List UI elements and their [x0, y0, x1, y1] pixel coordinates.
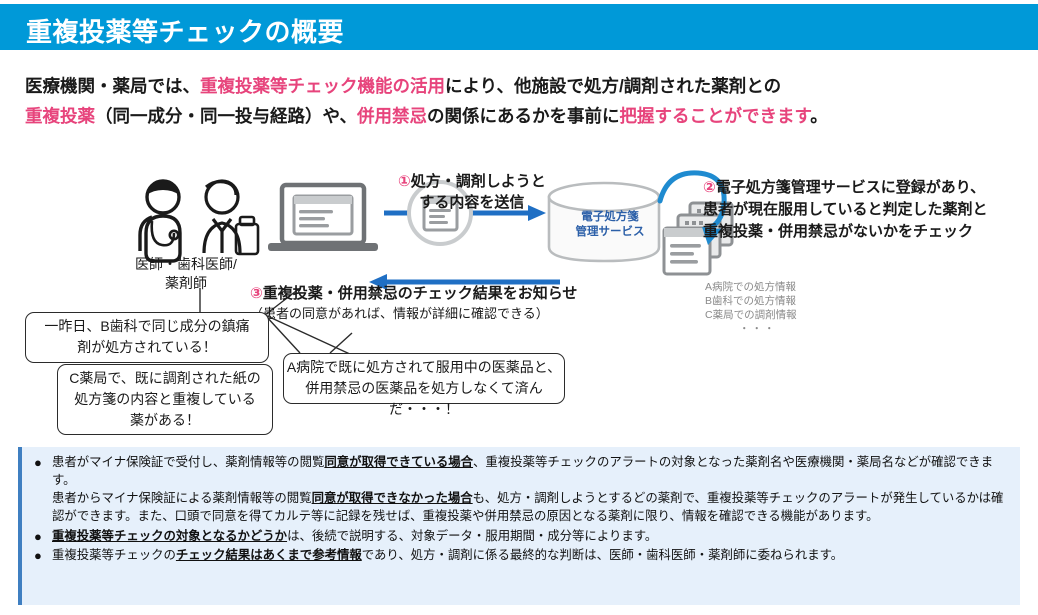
intro-line-2: 重複投薬（同一成分・同一投与経路）や、併用禁忌の関係にあるかを事前に把握すること…	[25, 102, 1020, 131]
step-2-number: ②	[703, 179, 716, 196]
note-1-text-a: 患者がマイナ保険証で受付し、薬剤情報等の閲覧	[52, 455, 324, 469]
role-label-line-2: 薬剤師	[165, 275, 207, 291]
record-list-item-1: A病院での処方情報	[705, 281, 796, 293]
note-3-text-b: であり、処方・調剤に係る最終的な判断は、医師・歯科医師・薬剤師に委ねられます。	[362, 548, 843, 562]
record-list: A病院での処方情報 B歯科での処方情報 C薬局での調剤情報 ・・・	[705, 280, 797, 336]
step-3-line-1: 重複投薬・併用禁忌のチェック結果をお知らせ	[263, 285, 578, 302]
doctor-hair-icon	[147, 181, 179, 195]
step-1-number: ①	[398, 173, 411, 190]
note-bullet-icon-2: ●	[34, 528, 52, 546]
step-2-line-2: 患者が現在服用していると判定した薬剤と	[703, 201, 988, 218]
note-item-1: ● 患者がマイナ保険証で受付し、薬剤情報等の閲覧同意が取得できている場合、重複投…	[34, 454, 1008, 489]
note-bullet-icon-1: ●	[34, 454, 52, 472]
note-1-emphasis: 同意が取得できている場合	[324, 455, 473, 469]
intro-text-1: 医療機関・薬局では、	[25, 76, 200, 96]
note-text-2: 重複投薬等チェックの対象となるかどうかは、後続で説明する、対象データ・服用期間・…	[52, 528, 1008, 546]
laptop-icon	[268, 185, 378, 251]
note-sub-text-a: 患者からマイナ保険証による薬剤情報等の閲覧	[52, 491, 312, 505]
intro-text-5: 。	[810, 106, 828, 126]
stethoscope-icon	[152, 221, 178, 245]
record-list-item-4: ・・・	[705, 323, 777, 335]
step-1-label: ①処方・調剤しようと する内容を送信	[398, 171, 546, 213]
flow-diagram: ①処方・調剤しようと する内容を送信 ②電子処方箋管理サービスに登録があり、 患…	[0, 155, 1038, 440]
role-label: 医師・歯科医師/ 薬剤師	[126, 255, 246, 293]
callout-pharmacy-line-2: 処方箋の内容と重複している	[74, 391, 256, 407]
step-1-line-1: 処方・調剤しようと	[411, 173, 546, 190]
note-text-3: 重複投薬等チェックのチェック結果はあくまで参考情報であり、処方・調剤に係る最終的…	[52, 547, 1008, 565]
intro-text-2: により、他施設で処方/調剤された薬剤との	[445, 76, 781, 96]
intro-text-4: の関係にあるかを事前に	[427, 106, 620, 126]
notes-panel: ● 患者がマイナ保険証で受付し、薬剤情報等の閲覧同意が取得できている場合、重複投…	[18, 447, 1020, 605]
step-1-line-2: する内容を送信	[419, 194, 524, 211]
step-3-label: ③重複投薬・併用禁忌のチェック結果をお知らせ （患者の同意があれば、情報が詳細に…	[250, 284, 577, 324]
note-text-1: 患者がマイナ保険証で受付し、薬剤情報等の閲覧同意が取得できている場合、重複投薬等…	[52, 454, 1008, 489]
callout-pharmacy-line-3: 薬がある！	[130, 412, 200, 428]
page-title: 重複投薬等チェックの概要	[26, 12, 344, 49]
record-list-item-2: B歯科での処方情報	[705, 295, 796, 307]
step-2-line-3: 重複投薬・併用禁忌がないかをチェック	[703, 223, 973, 240]
callout-hospital-line-1: A病院で既に処方されて服用中の医薬品と、	[287, 359, 561, 375]
callout-dental: 一昨日、B歯科で同じ成分の鎮痛 剤が処方されている！	[25, 312, 269, 363]
intro-highlight-4: 把握することができます	[619, 106, 810, 126]
callout-pharmacy-line-1: C薬局で、既に調剤された紙の	[69, 370, 261, 386]
callout-dental-line-1: 一昨日、B歯科で同じ成分の鎮痛	[44, 318, 249, 334]
database-label-line-1: 電子処方箋	[581, 211, 639, 223]
pharmacist-icon	[204, 181, 240, 253]
intro-paragraph: 医療機関・薬局では、重複投薬等チェック機能の活用により、他施設で処方/調剤された…	[25, 72, 1020, 131]
callout-hospital: A病院で既に処方されて服用中の医薬品と、 併用禁忌の医薬品を処方しなくて済んだ・…	[283, 353, 565, 404]
intro-line-1: 医療機関・薬局では、重複投薬等チェック機能の活用により、他施設で処方/調剤された…	[25, 72, 1020, 101]
record-list-item-3: C薬局での調剤情報	[705, 309, 797, 321]
step-3-line-2: （患者の同意があれば、情報が詳細に確認できる）	[250, 306, 549, 321]
intro-highlight-2: 重複投薬	[25, 106, 95, 126]
callout-pharmacy: C薬局で、既に調剤された紙の 処方箋の内容と重複している 薬がある！	[57, 364, 273, 435]
note-item-2: ● 重複投薬等チェックの対象となるかどうかは、後続で説明する、対象データ・服用期…	[34, 528, 1008, 546]
step-2-label: ②電子処方箋管理サービスに登録があり、 患者が現在服用していると判定した薬剤と …	[703, 177, 988, 243]
intro-highlight-1: 重複投薬等チェック機能の活用	[200, 76, 445, 96]
note-3-emphasis: チェック結果はあくまで参考情報	[176, 548, 362, 562]
role-label-line-1: 医師・歯科医師/	[135, 256, 237, 272]
intro-text-3: （同一成分・同一投与経路）や、	[95, 106, 357, 126]
intro-highlight-3: 併用禁忌	[357, 106, 427, 126]
doctor-icon	[140, 181, 180, 261]
database-label-line-2: 管理サービス	[576, 226, 645, 238]
callout-dental-line-2: 剤が処方されている！	[77, 339, 217, 355]
note-item-3: ● 重複投薬等チェックのチェック結果はあくまで参考情報であり、処方・調剤に係る最…	[34, 547, 1008, 565]
note-subparagraph: 患者からマイナ保険証による薬剤情報等の閲覧同意が取得できなかった場合も、処方・調…	[52, 490, 1008, 525]
note-bullet-icon-3: ●	[34, 547, 52, 565]
step-2-line-1: 電子処方箋管理サービスに登録があり、	[716, 179, 985, 196]
note-sub-emphasis: 同意が取得できなかった場合	[312, 491, 473, 505]
note-2-emphasis: 重複投薬等チェックの対象となるかどうか	[52, 529, 287, 543]
note-2-text-b: は、後続で説明する、対象データ・服用期間・成分等によります。	[287, 529, 657, 543]
step-3-number: ③	[250, 285, 263, 302]
note-3-text-a: 重複投薬等チェックの	[52, 548, 176, 562]
database-label: 電子処方箋 管理サービス	[558, 210, 662, 240]
